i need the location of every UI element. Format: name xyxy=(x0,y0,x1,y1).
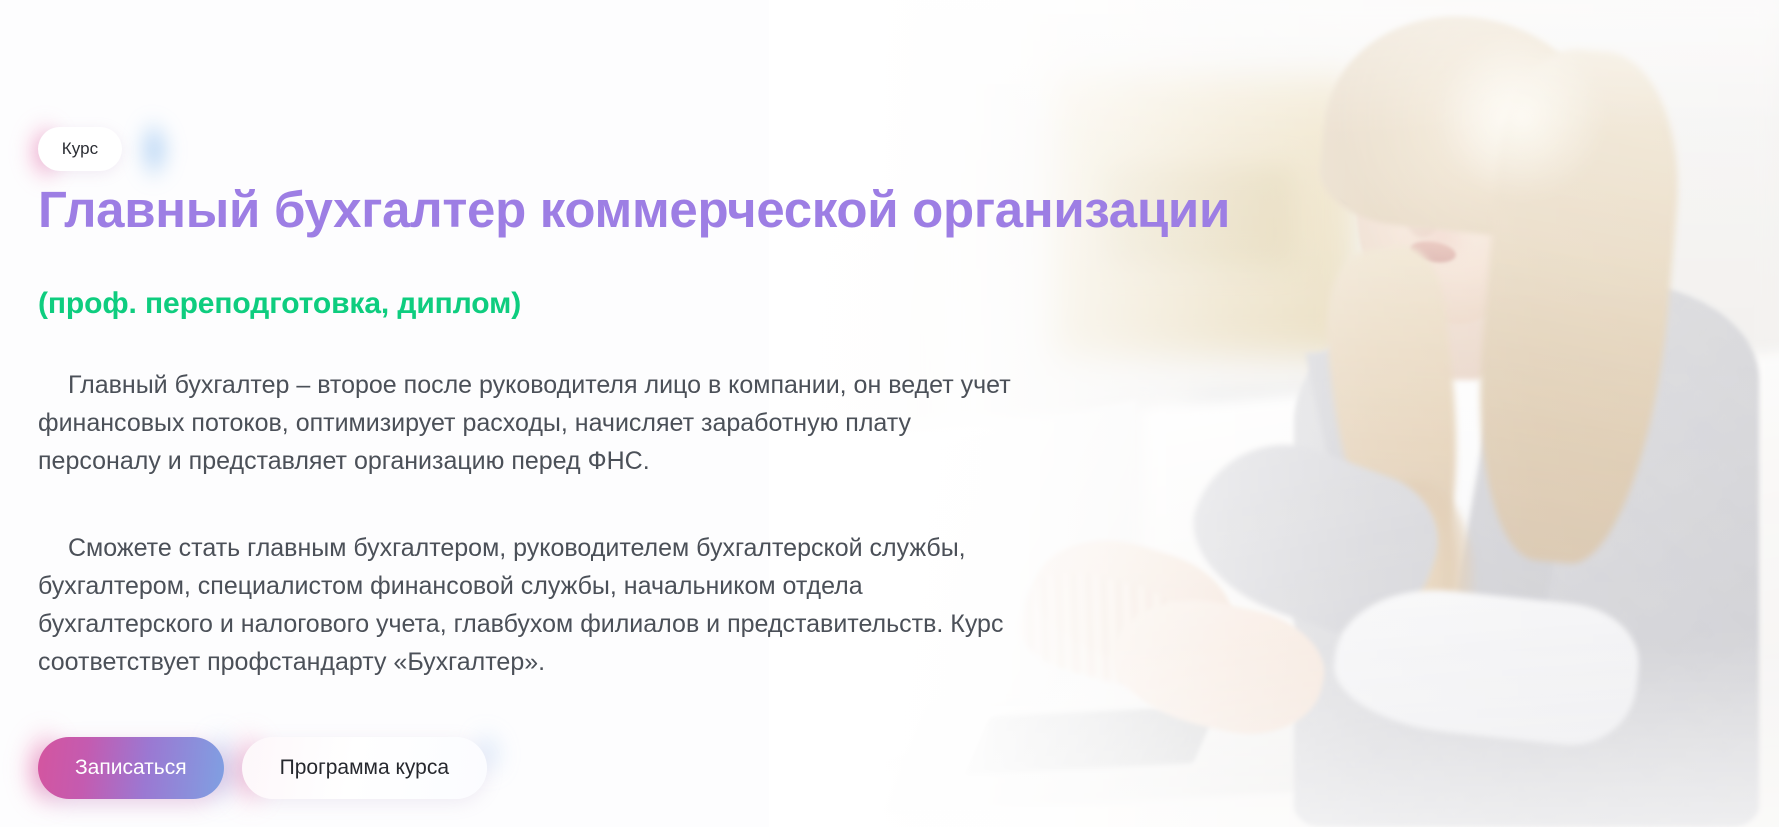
course-badge[interactable]: Курс xyxy=(38,127,122,171)
description-paragraph-1: Главный бухгалтер – второе после руковод… xyxy=(38,366,1018,480)
person-hair-highlight xyxy=(1436,25,1608,207)
course-badge-wrapper: Курс xyxy=(38,127,158,175)
course-program-button[interactable]: Программа курса xyxy=(242,737,487,799)
page-title: Главный бухгалтер коммерческой организац… xyxy=(38,180,1378,240)
cta-button-row: Записаться Программа курса xyxy=(38,737,487,799)
page-subtitle: (проф. переподготовка, диплом) xyxy=(38,284,521,324)
hero-content: Курс Главный бухгалтер коммерческой орга… xyxy=(38,0,1158,827)
description-paragraph-2: Сможете стать главным бухгалтером, руков… xyxy=(38,529,1018,681)
enroll-button[interactable]: Записаться xyxy=(38,737,224,799)
course-hero-section: Курс Главный бухгалтер коммерческой орга… xyxy=(0,0,1779,827)
enroll-button-wrapper: Записаться xyxy=(38,737,224,799)
program-button-wrapper: Программа курса xyxy=(242,737,487,799)
